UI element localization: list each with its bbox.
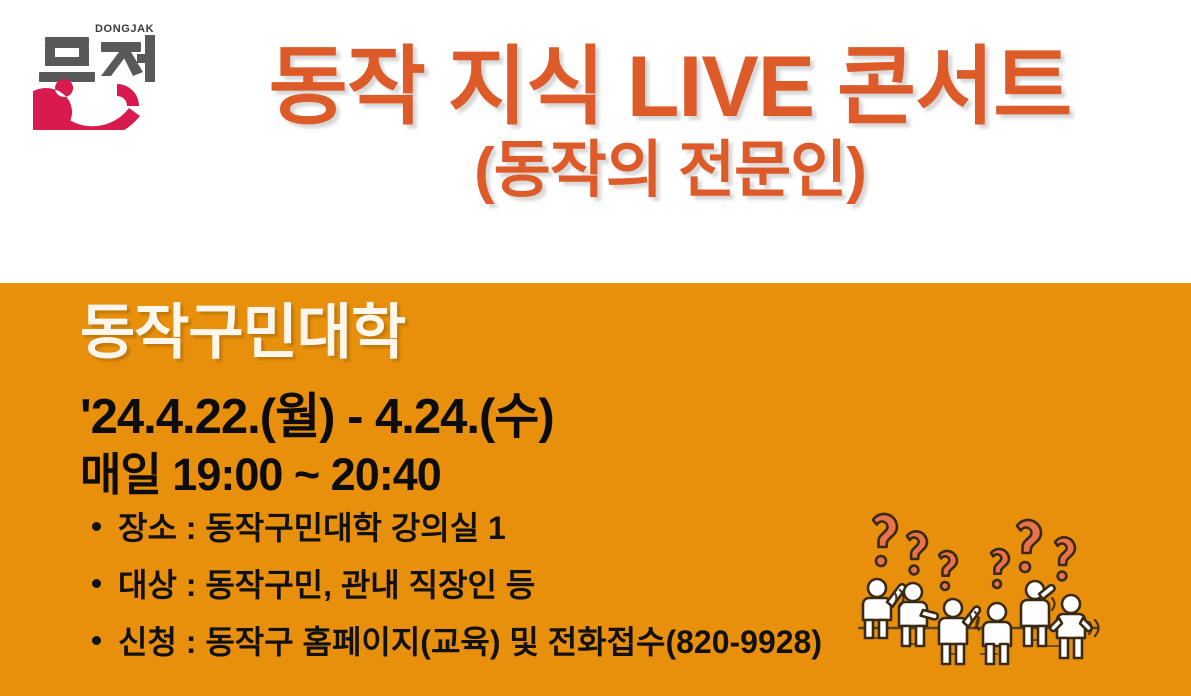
section-heading: 동작구민대학 (80, 303, 405, 363)
question-mark-icon (991, 549, 1009, 588)
title-block: 동작 지식 LIVE 콘서트 (동작의 전문인) (170, 44, 1170, 203)
list-item: 신청 : 동작구 홈페이지(교육) 및 전화접수(820-9928) (92, 626, 822, 658)
sub-title: (동작의 전문인) (170, 138, 1170, 203)
list-item: 장소 : 동작구민대학 강의실 1 (92, 512, 822, 544)
svg-text:DONGJAK: DONGJAK (95, 23, 154, 35)
people-with-question-marks-illustration (845, 498, 1175, 678)
event-time-line: 매일 19:00 ~ 20:40 (80, 452, 441, 497)
figure-person (1050, 595, 1091, 658)
question-mark-icon (1017, 520, 1041, 572)
bullet-dot-icon (92, 522, 101, 531)
figure-person (899, 583, 938, 646)
list-item-label: 대상 : 동작구민, 관내 직장인 등 (118, 569, 535, 601)
figure-person (1021, 581, 1055, 646)
event-details-list: 장소 : 동작구민대학 강의실 1 대상 : 동작구민, 관내 직장인 등 신청… (92, 512, 822, 683)
question-mark-icon (1055, 537, 1075, 580)
bullet-dot-icon (92, 636, 101, 645)
poster-root: DONGJAK (0, 0, 1191, 696)
list-item: 대상 : 동작구민, 관내 직장인 등 (92, 569, 822, 601)
dongjak-logo: DONGJAK (33, 18, 161, 130)
question-mark-icon (939, 551, 957, 590)
main-title: 동작 지식 LIVE 콘서트 (170, 44, 1170, 130)
figure-person (939, 599, 980, 664)
question-mark-icon (907, 531, 927, 574)
bullet-dot-icon (92, 579, 101, 588)
list-item-label: 장소 : 동작구민대학 강의실 1 (118, 512, 506, 544)
question-mark-icon (873, 514, 897, 566)
list-item-label: 신청 : 동작구 홈페이지(교육) 및 전화접수(820-9928) (118, 626, 822, 658)
event-date-line: '24.4.22.(월) - 4.24.(수) (80, 393, 554, 442)
